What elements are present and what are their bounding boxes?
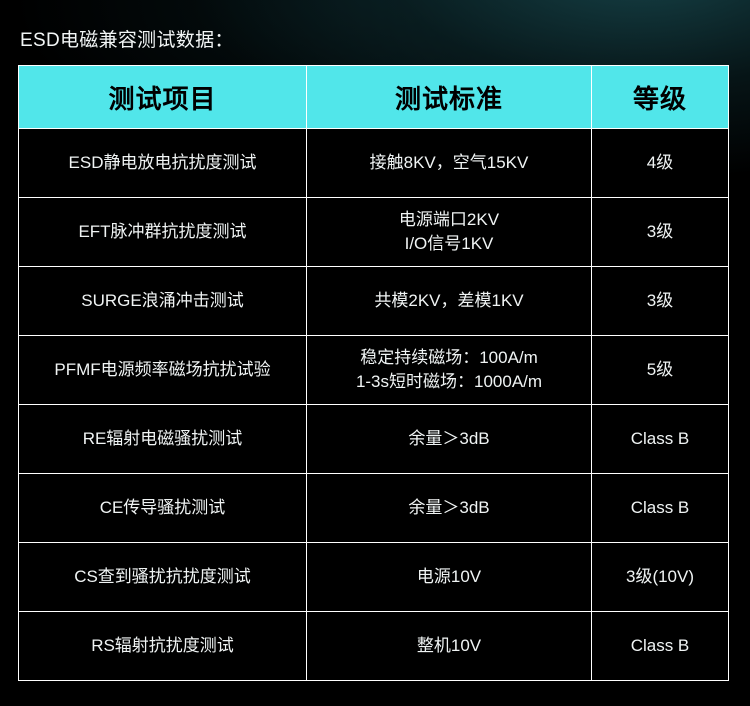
- cell-level: 3级: [592, 267, 729, 336]
- cell-level: Class B: [592, 612, 729, 681]
- page-title: ESD电磁兼容测试数据：: [20, 30, 234, 52]
- cell-test-standard: 接触8KV，空气15KV: [307, 129, 592, 198]
- standard-line: 电源10V: [311, 565, 587, 589]
- standard-line: 接触8KV，空气15KV: [311, 151, 587, 175]
- column-header-level: 等级: [592, 66, 729, 129]
- standard-line: 余量＞3dB: [311, 496, 587, 520]
- standard-line: 余量＞3dB: [311, 427, 587, 451]
- cell-test-item: ESD静电放电抗扰度测试: [19, 129, 307, 198]
- table-body: ESD静电放电抗扰度测试接触8KV，空气15KV4级EFT脉冲群抗扰度测试电源端…: [19, 129, 729, 681]
- table-header-row: 测试项目 测试标准 等级: [19, 66, 729, 129]
- cell-test-standard: 整机10V: [307, 612, 592, 681]
- column-header-test-standard: 测试标准: [307, 66, 592, 129]
- cell-test-standard: 稳定持续磁场：100A/m1-3s短时磁场：1000A/m: [307, 336, 592, 405]
- cell-test-item: EFT脉冲群抗扰度测试: [19, 198, 307, 267]
- cell-test-item: CE传导骚扰测试: [19, 474, 307, 543]
- standard-line: 共模2KV，差模1KV: [311, 289, 587, 313]
- table-row: CS查到骚扰抗扰度测试电源10V3级(10V): [19, 543, 729, 612]
- cell-level: Class B: [592, 474, 729, 543]
- table-row: CE传导骚扰测试余量＞3dBClass B: [19, 474, 729, 543]
- table-row: PFMF电源频率磁场抗扰试验稳定持续磁场：100A/m1-3s短时磁场：1000…: [19, 336, 729, 405]
- cell-level: 5级: [592, 336, 729, 405]
- cell-test-item: SURGE浪涌冲击测试: [19, 267, 307, 336]
- table-row: RS辐射抗扰度测试整机10VClass B: [19, 612, 729, 681]
- standard-line: 电源端口2KV: [311, 208, 587, 232]
- table-row: SURGE浪涌冲击测试共模2KV，差模1KV3级: [19, 267, 729, 336]
- cell-test-item: CS查到骚扰抗扰度测试: [19, 543, 307, 612]
- column-header-test-item: 测试项目: [19, 66, 307, 129]
- cell-level: 3级(10V): [592, 543, 729, 612]
- cell-test-item: RS辐射抗扰度测试: [19, 612, 307, 681]
- esd-test-table-wrapper: 测试项目 测试标准 等级 ESD静电放电抗扰度测试接触8KV，空气15KV4级E…: [18, 65, 728, 636]
- cell-test-standard: 电源10V: [307, 543, 592, 612]
- cell-level: Class B: [592, 405, 729, 474]
- table-row: ESD静电放电抗扰度测试接触8KV，空气15KV4级: [19, 129, 729, 198]
- cell-test-standard: 余量＞3dB: [307, 405, 592, 474]
- cell-level: 4级: [592, 129, 729, 198]
- standard-line: I/O信号1KV: [311, 232, 587, 256]
- table-row: EFT脉冲群抗扰度测试电源端口2KVI/O信号1KV3级: [19, 198, 729, 267]
- standard-line: 稳定持续磁场：100A/m: [311, 346, 587, 370]
- esd-test-table: 测试项目 测试标准 等级 ESD静电放电抗扰度测试接触8KV，空气15KV4级E…: [18, 65, 729, 681]
- table-row: RE辐射电磁骚扰测试余量＞3dBClass B: [19, 405, 729, 474]
- cell-test-item: RE辐射电磁骚扰测试: [19, 405, 307, 474]
- cell-test-standard: 余量＞3dB: [307, 474, 592, 543]
- cell-test-item: PFMF电源频率磁场抗扰试验: [19, 336, 307, 405]
- cell-test-standard: 共模2KV，差模1KV: [307, 267, 592, 336]
- standard-line: 1-3s短时磁场：1000A/m: [311, 370, 587, 394]
- cell-level: 3级: [592, 198, 729, 267]
- table-header: 测试项目 测试标准 等级: [19, 66, 729, 129]
- standard-line: 整机10V: [311, 634, 587, 658]
- cell-test-standard: 电源端口2KVI/O信号1KV: [307, 198, 592, 267]
- page-root: ESD电磁兼容测试数据： 测试项目 测试标准 等级 ESD静电放电抗扰度测试接触…: [0, 0, 750, 706]
